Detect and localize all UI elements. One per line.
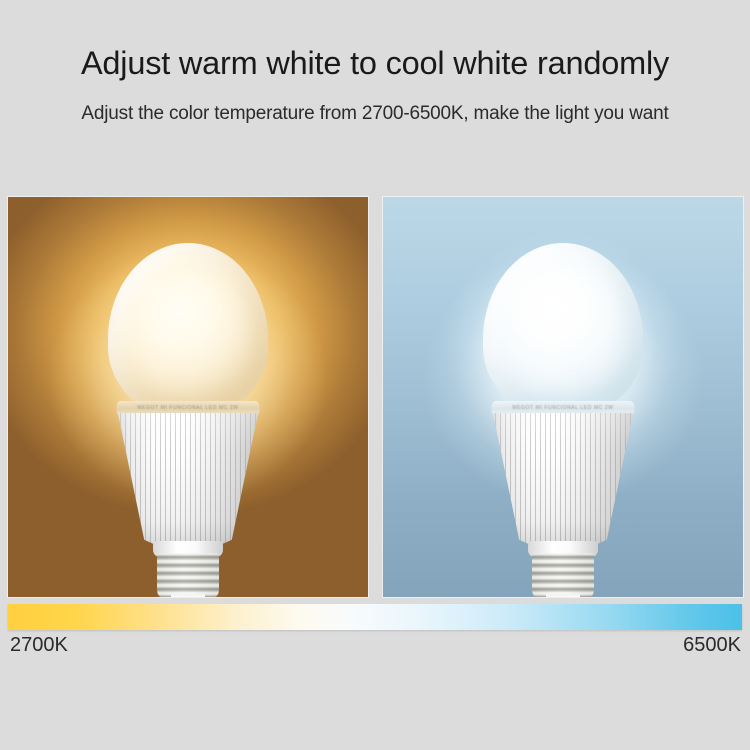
header-section: Adjust warm white to cool white randomly… (0, 0, 750, 180)
warm-bulb-illustration: MEGOT MI FUNCIONAL LED MC 2W (102, 215, 274, 587)
heatsink-shading (115, 413, 261, 545)
bulb-base-tip (171, 594, 205, 597)
footer-spacer (0, 665, 750, 750)
bulb-heatsink-fins (490, 413, 636, 545)
page-title: Adjust warm white to cool white randomly (0, 43, 750, 83)
bulb-base-tip (546, 594, 580, 597)
bulb-heatsink-fins (115, 413, 261, 545)
bulb-e27-screw-base (157, 553, 219, 597)
cool-white-bulb-photo: MEGOT MI FUNCIONAL LED MC 2W (383, 197, 743, 597)
bulb-e27-screw-base (532, 553, 594, 597)
cool-bulb-illustration: MEGOT MI FUNCIONAL LED MC 2W (477, 215, 649, 587)
page-subtitle: Adjust the color temperature from 2700-6… (0, 101, 750, 127)
temperature-min-label: 2700K (10, 633, 68, 657)
warm-white-bulb-photo: MEGOT MI FUNCIONAL LED MC 2W (8, 197, 368, 597)
heatsink-shading (490, 413, 636, 545)
temperature-max-label: 6500K (683, 633, 741, 657)
color-temperature-gradient-bar (8, 604, 742, 630)
